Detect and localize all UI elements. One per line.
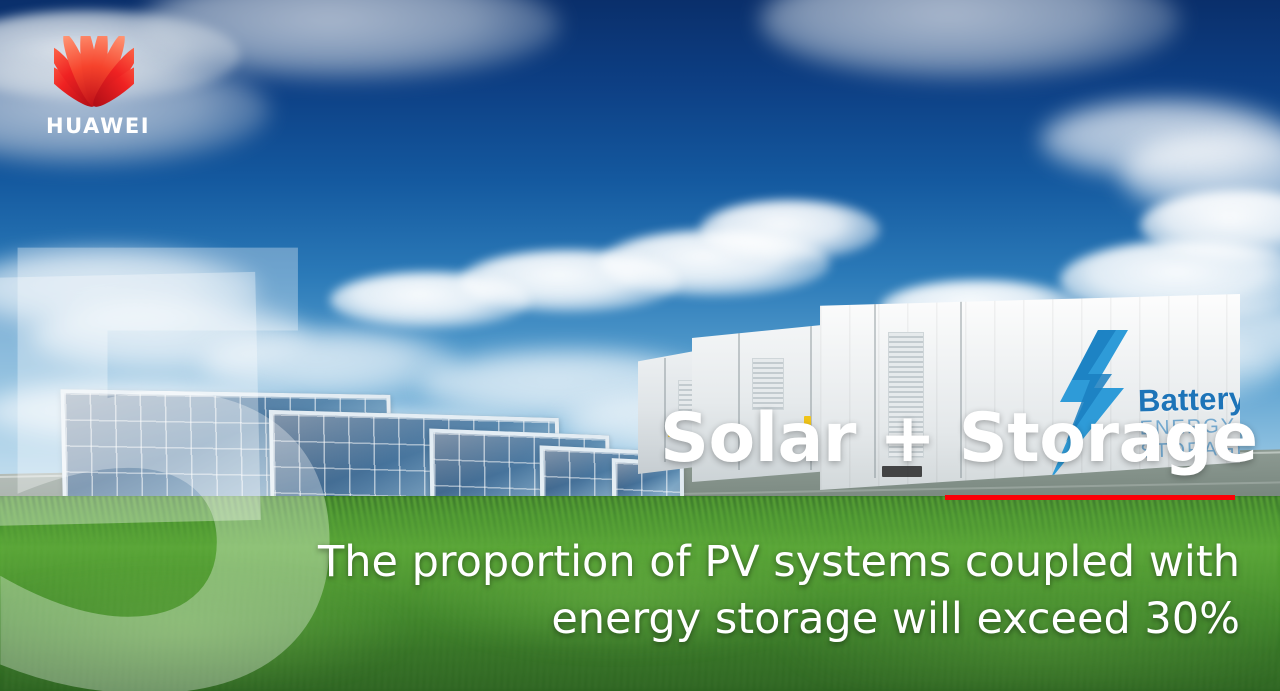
page-title: Solar + Storage: [660, 400, 1240, 478]
subtitle-line-2: energy storage will exceed 30%: [240, 591, 1240, 648]
subtitle-line-1: The proportion of PV systems coupled wit…: [240, 534, 1240, 591]
huawei-flower-icon: [54, 36, 134, 108]
title-underline-rule: [945, 495, 1235, 500]
slide-canvas: Battery ENERGY STORAGE 5 Solar + Storage…: [0, 0, 1280, 691]
slide-subtitle: The proportion of PV systems coupled wit…: [240, 534, 1240, 648]
huawei-logo: HUAWEI: [46, 36, 142, 146]
huawei-wordmark: HUAWEI: [46, 114, 142, 138]
